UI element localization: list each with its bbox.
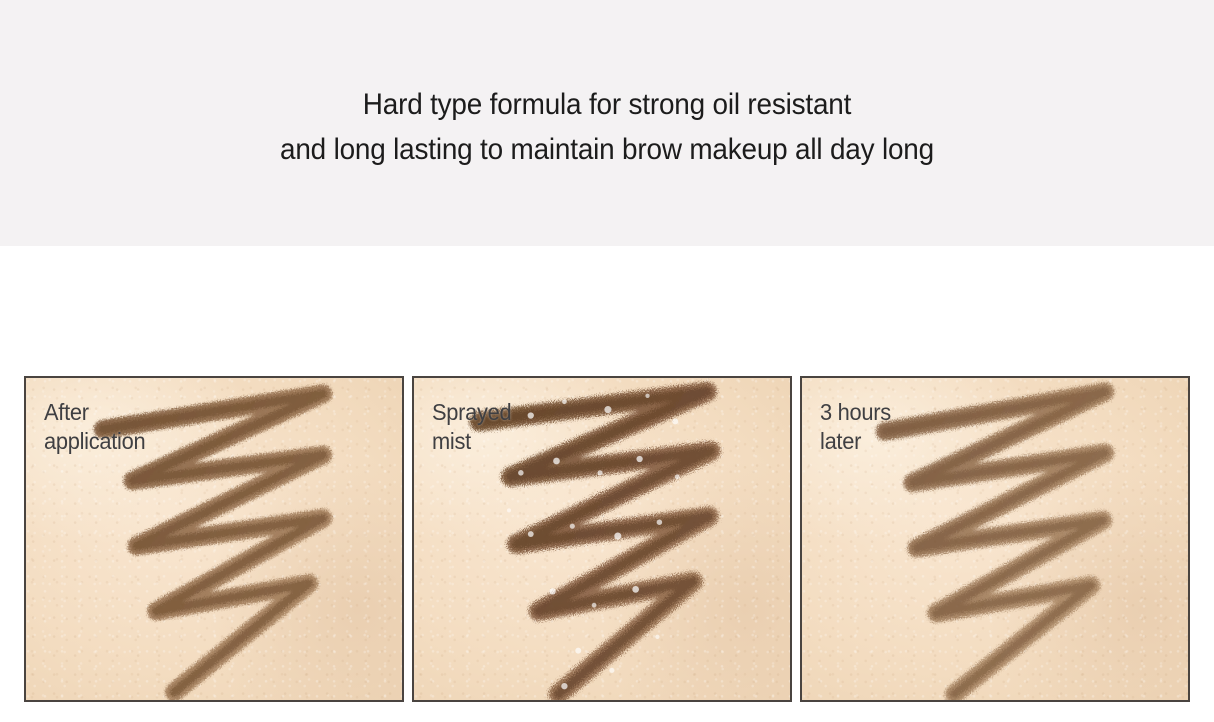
hero-headline-line-1: Hard type formula for strong oil resista…	[42, 82, 1171, 127]
swatch-panel-three-hours-later: 3 hours later	[800, 376, 1190, 702]
panel-label-sprayed-mist: Sprayed mist	[432, 398, 511, 456]
hero-band: Hard type formula for strong oil resista…	[0, 0, 1214, 246]
panel-label-after-application: After application	[44, 398, 145, 456]
swatch-panel-sprayed-mist: Sprayed mist	[412, 376, 792, 702]
hero-headline-line-2: and long lasting to maintain brow makeup…	[42, 127, 1171, 172]
hero-headline: Hard type formula for strong oil resista…	[42, 82, 1171, 172]
panel-label-three-hours-later: 3 hours later	[820, 398, 891, 456]
swatch-panel-after-application: After application	[24, 376, 404, 702]
wear-test-comparison-strip: After application	[24, 376, 1190, 702]
